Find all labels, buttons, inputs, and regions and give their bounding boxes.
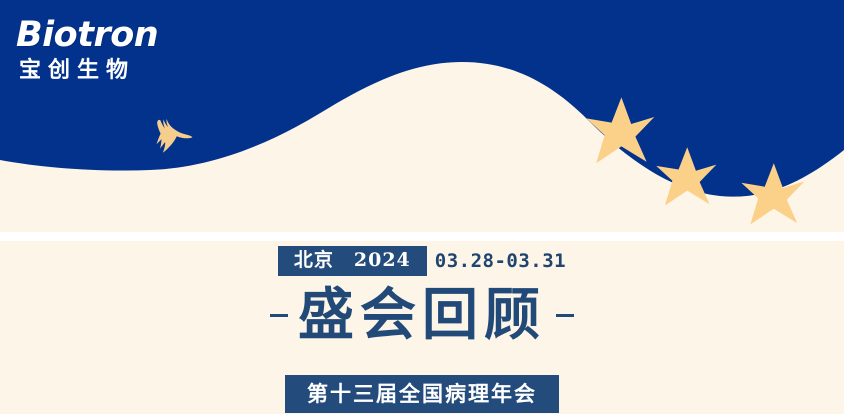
logo-english-text: Biotron xyxy=(16,18,158,53)
title-dash-left xyxy=(270,314,288,317)
page-title: 盛会回顾 xyxy=(298,286,546,345)
title-dash-right xyxy=(556,314,574,317)
hero-section: Biotron 宝创生物 xyxy=(0,0,844,232)
star-icon xyxy=(740,162,805,227)
main-title-row: 盛会回顾 xyxy=(0,286,844,345)
logo-chinese-text: 宝创生物 xyxy=(19,60,158,82)
section-divider xyxy=(0,232,844,241)
city-year-badge: 北京 2024 xyxy=(278,246,427,276)
event-date-row: 北京 2024 03.28-03.31 xyxy=(0,246,844,276)
event-name-banner: 第十三届全国病理年会 xyxy=(285,375,559,413)
content-section: 北京 2024 03.28-03.31 盛会回顾 第十三届全国病理年会 xyxy=(0,241,844,414)
brand-logo[interactable]: Biotron 宝创生物 xyxy=(16,18,158,82)
date-range-text: 03.28-03.31 xyxy=(435,252,566,271)
star-icon xyxy=(585,96,655,166)
star-icon xyxy=(655,146,717,208)
dove-icon xyxy=(150,114,194,160)
poster-page: Biotron 宝创生物 北京 2024 03.28-03.31 盛会回顾 第十… xyxy=(0,0,844,414)
